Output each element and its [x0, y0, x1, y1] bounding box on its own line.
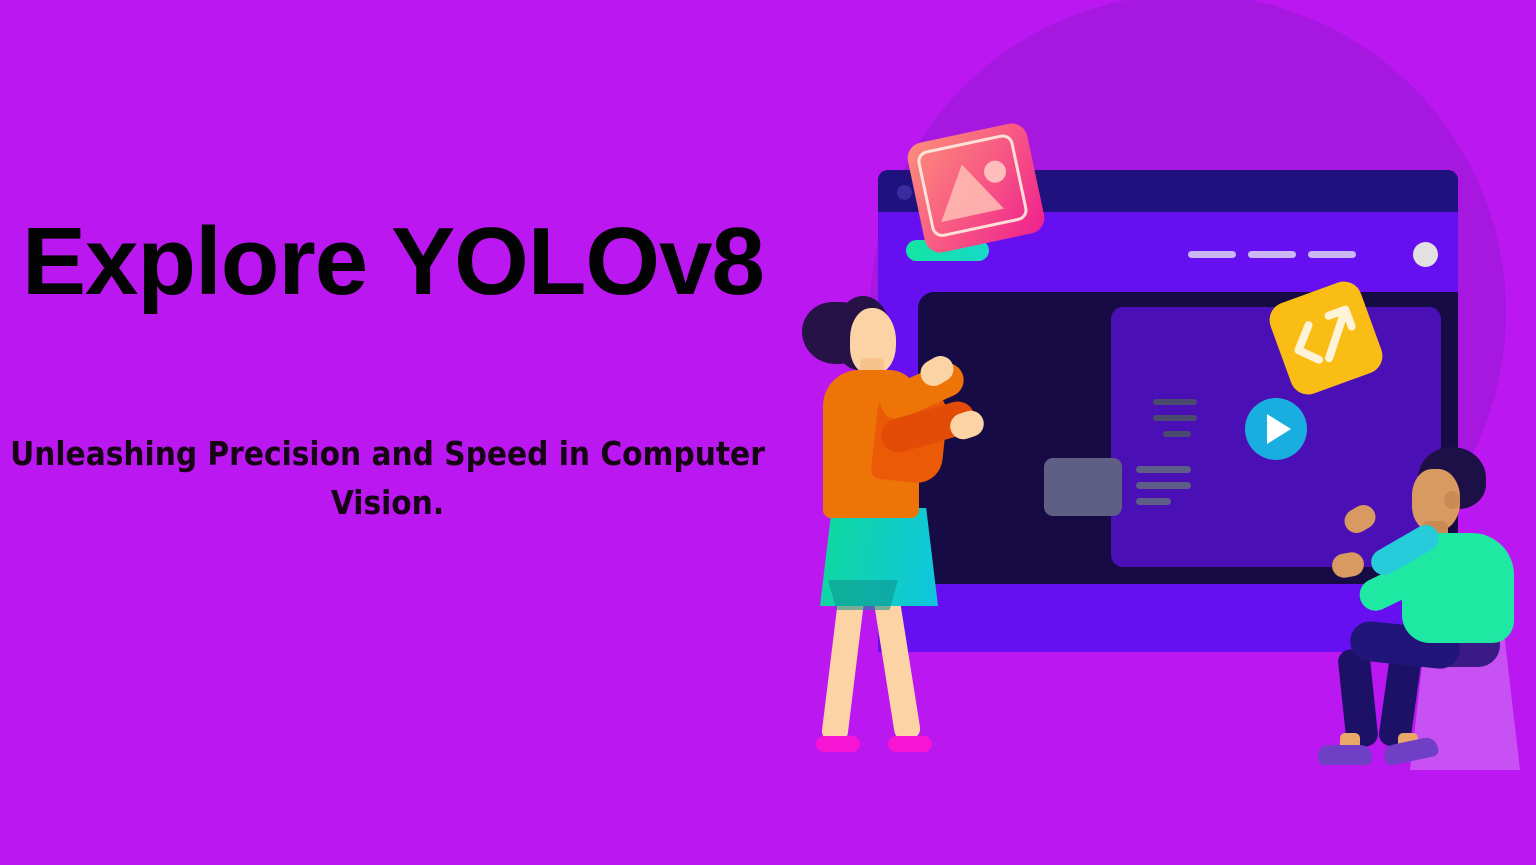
woman-shoe-back [816, 736, 860, 752]
slide-canvas: Explore YOLOv8 Unleashing Precision and … [0, 0, 1536, 865]
page-title: Explore YOLOv8 [22, 212, 764, 313]
woman-skirt-shadow [828, 580, 898, 610]
woman-shoe-front [888, 736, 932, 752]
woman-figure [780, 290, 1030, 770]
placeholder-card [1044, 458, 1122, 516]
man-figure [1360, 445, 1536, 775]
man-ear [1444, 491, 1460, 509]
nav-line-1[interactable] [1188, 251, 1236, 258]
window-dot-icon[interactable] [897, 185, 912, 200]
play-button[interactable] [1245, 398, 1307, 460]
avatar[interactable] [1413, 242, 1438, 267]
text-block: Explore YOLOv8 Unleashing Precision and … [0, 0, 790, 865]
nav-line-3[interactable] [1308, 251, 1356, 258]
panel-line-3 [1136, 498, 1171, 505]
panel-line-1 [1136, 466, 1191, 473]
floor-strip [760, 652, 1536, 692]
page-subtitle: Unleashing Precision and Speed in Comput… [0, 430, 775, 528]
speed-line-2 [1153, 415, 1197, 421]
speed-line-1 [1153, 399, 1197, 405]
man-shoe-back [1318, 745, 1372, 765]
speed-line-3 [1163, 431, 1191, 437]
panel-line-2 [1136, 482, 1191, 489]
play-icon [1267, 414, 1291, 444]
hero-illustration [760, 0, 1536, 865]
nav-line-2[interactable] [1248, 251, 1296, 258]
